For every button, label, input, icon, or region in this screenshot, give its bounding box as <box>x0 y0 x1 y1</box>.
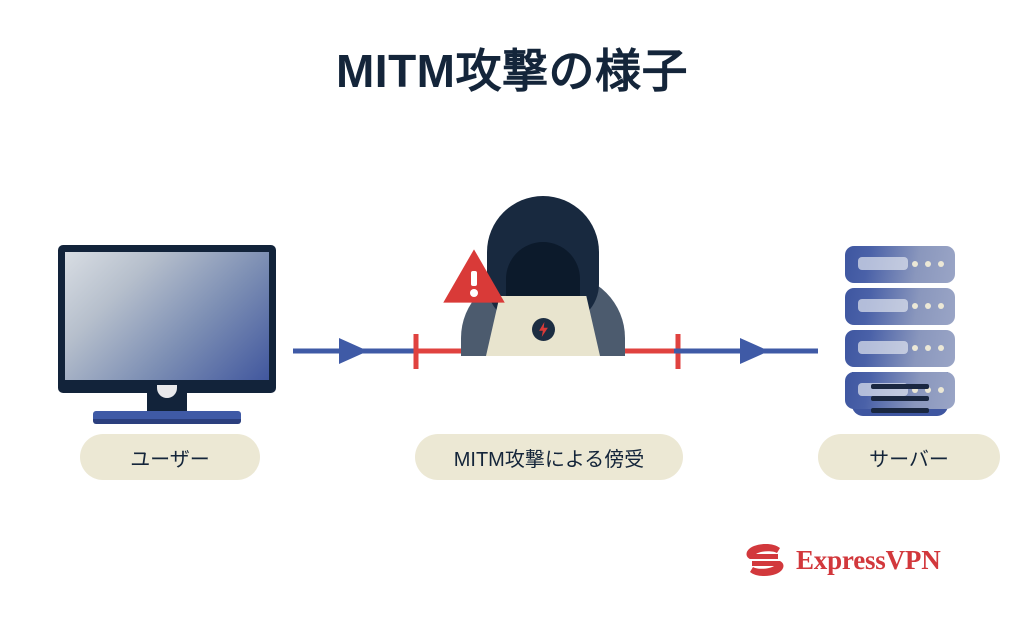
server-status-dot <box>938 387 944 393</box>
label-server: サーバー <box>818 434 1000 480</box>
diagram-canvas: MITM攻撃の様子 <box>0 0 1024 621</box>
warning-triangle-icon <box>442 247 506 305</box>
server-status-dot <box>925 345 931 351</box>
page-title: MITM攻撃の様子 <box>0 46 1024 97</box>
server-status-dot <box>925 261 931 267</box>
server-rack-icon <box>845 246 955 416</box>
left-arrow-right-icon <box>339 338 368 364</box>
server-vent-line <box>871 396 929 401</box>
label-user: ユーザー <box>80 434 260 480</box>
warning-exclamation-bar <box>471 271 477 286</box>
server-status-dot <box>912 345 918 351</box>
server-status-dot <box>938 303 944 309</box>
label-attacker: MITM攻撃による傍受 <box>415 434 683 480</box>
server-slot-bar <box>858 257 908 270</box>
server-status-dot <box>912 303 918 309</box>
server-vent-line <box>871 384 929 389</box>
server-status-dot <box>938 345 944 351</box>
server-status-dot <box>938 261 944 267</box>
warning-exclamation-dot <box>470 289 478 297</box>
server-vent-line <box>871 408 929 413</box>
desktop-monitor-icon <box>58 245 276 420</box>
server-status-dot <box>925 303 931 309</box>
monitor-stand-base-shadow <box>93 419 241 424</box>
server-slot-bar <box>858 341 908 354</box>
expressvpn-wordmark: ExpressVPN <box>796 545 941 576</box>
expressvpn-e-mark-icon <box>744 543 786 577</box>
server-status-dots <box>912 261 944 267</box>
server-slot <box>845 372 955 409</box>
server-slot <box>845 330 955 367</box>
server-status-dot <box>912 261 918 267</box>
monitor-screen <box>65 252 269 380</box>
right-arrow-right-icon <box>740 338 769 364</box>
server-slot <box>845 246 955 283</box>
server-status-dots <box>912 303 944 309</box>
server-slot <box>845 288 955 325</box>
expressvpn-logo: ExpressVPN <box>744 538 969 582</box>
server-status-dots <box>912 345 944 351</box>
server-slot-bar <box>858 299 908 312</box>
